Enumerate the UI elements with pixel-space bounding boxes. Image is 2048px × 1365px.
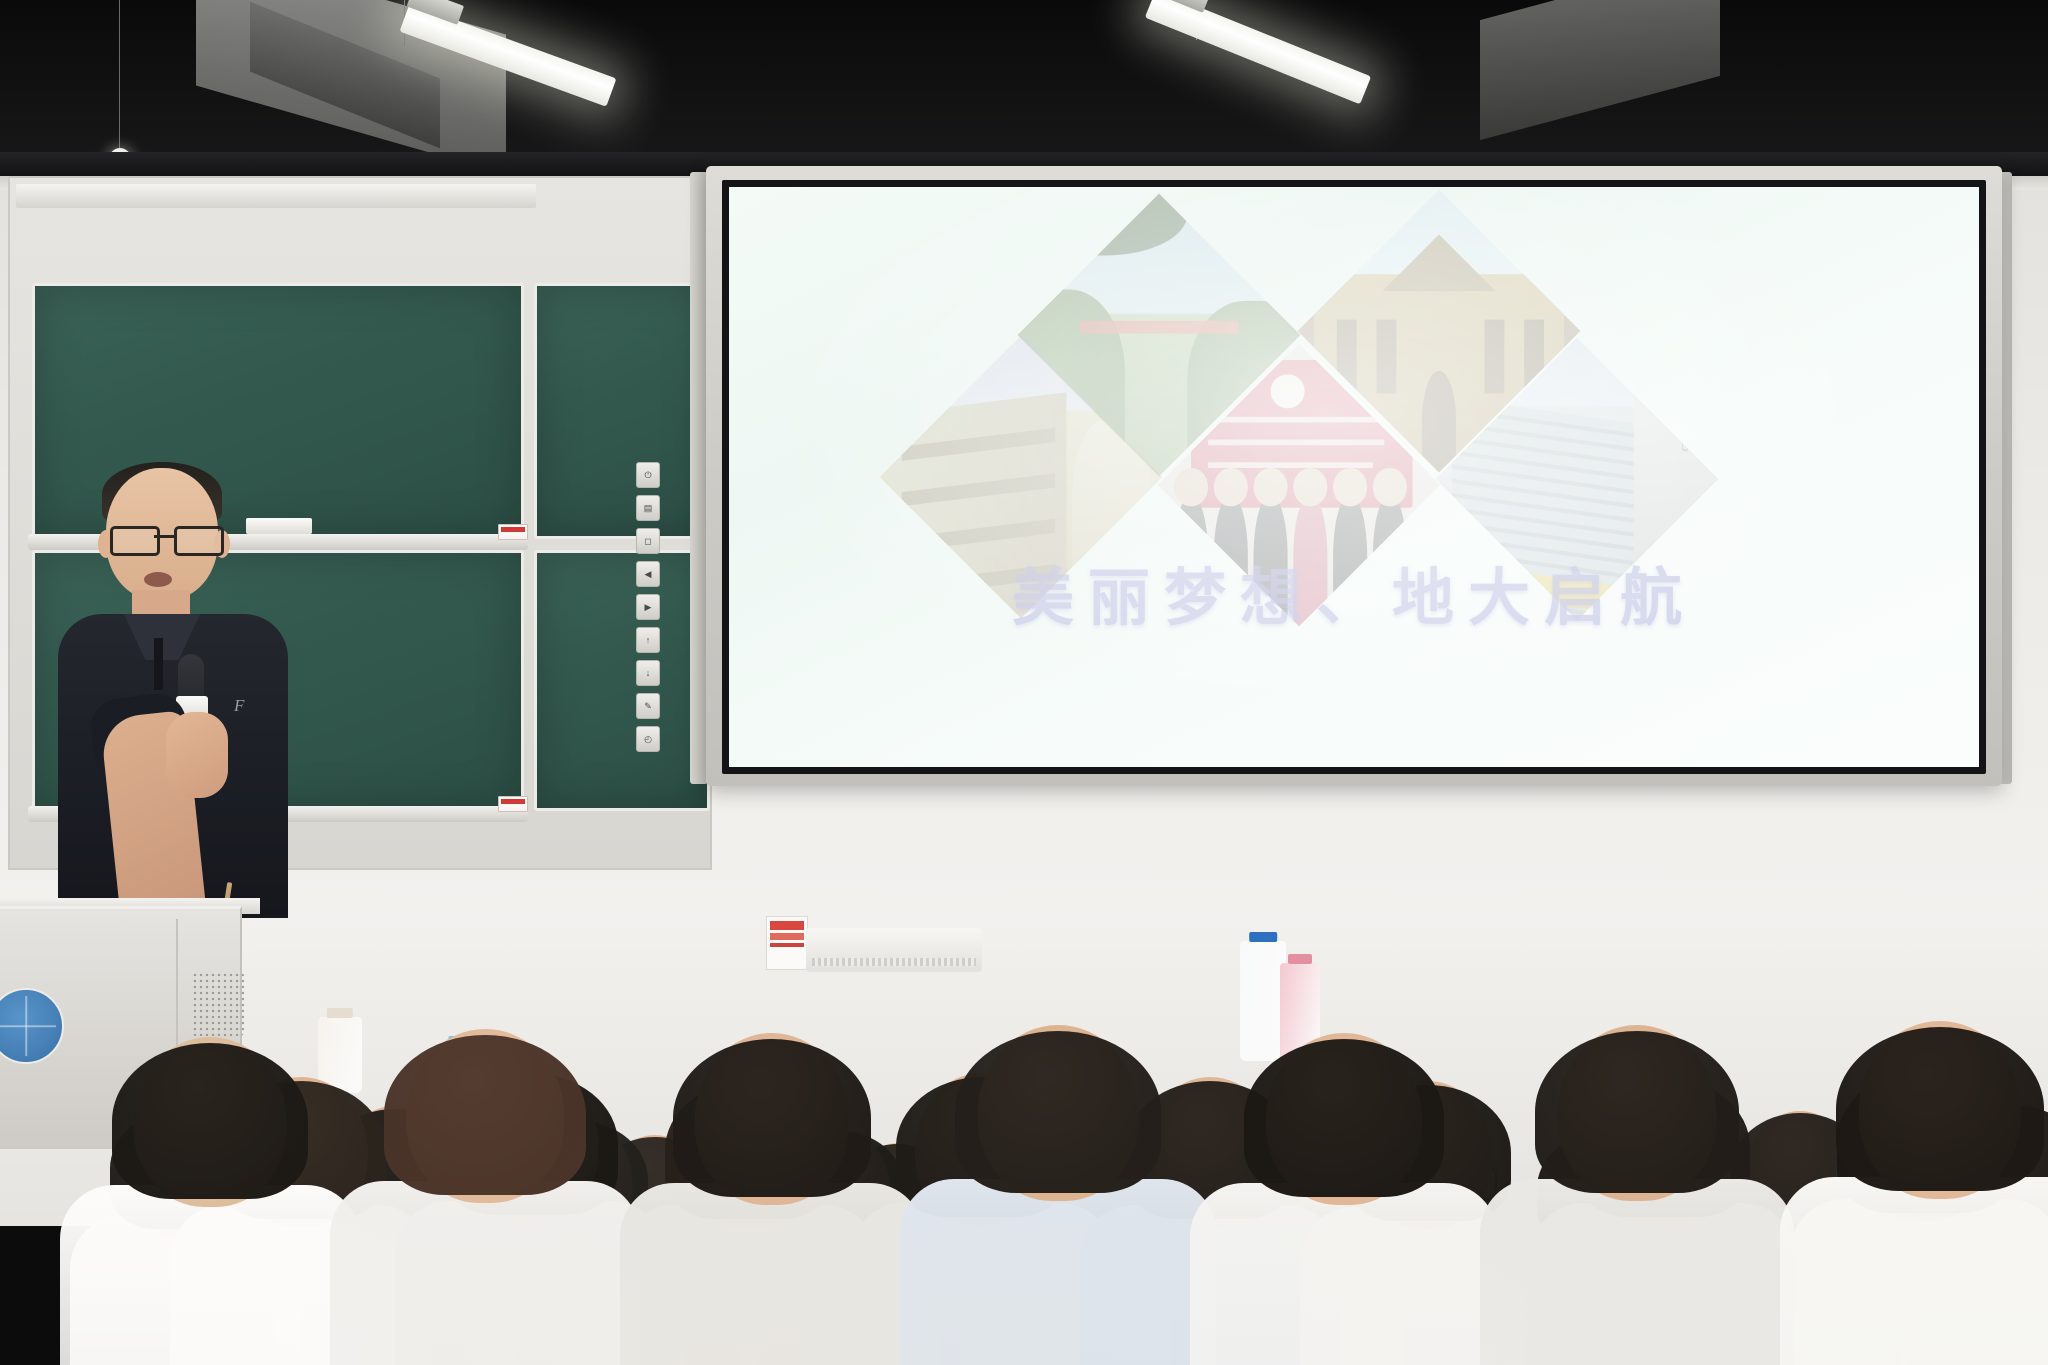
audience (0, 725, 2048, 1365)
bottle-cap (1249, 932, 1277, 942)
hall-window (1337, 320, 1357, 394)
board-top-cap (16, 184, 536, 208)
tube-end-cap (1153, 0, 1211, 13)
audience-hair (1535, 1031, 1739, 1193)
screen-button[interactable]: ▤ (636, 495, 660, 521)
glasses-bridge (154, 535, 174, 538)
audience-shoulders (1190, 1183, 1498, 1365)
group-person-head (1373, 468, 1407, 507)
hall-pediment (1382, 234, 1496, 291)
presenter-glasses-icon (110, 526, 218, 550)
power-button[interactable]: ⏻ (636, 462, 660, 488)
audience-member (620, 1011, 924, 1365)
pendant-wire (119, 0, 120, 150)
projection-screen[interactable]: CUG 美丽梦想、地大启航 (706, 166, 2002, 786)
projector-button[interactable]: ◻ (636, 528, 660, 554)
audience-shoulders (1780, 1177, 2048, 1365)
tree-canopy (1040, 194, 1188, 256)
audience-hair (1836, 1027, 2044, 1191)
group-person-head (1214, 468, 1248, 507)
library-vertical-label: CUG (1676, 405, 1699, 457)
diamond-collage: CUG (729, 187, 1979, 767)
shirt-brand-mark: F (234, 696, 244, 716)
hall-arch-door (1422, 371, 1456, 473)
audience-hair (1244, 1039, 1444, 1197)
bottle-cap (1288, 954, 1312, 964)
board-down-button[interactable]: ↓ (636, 660, 660, 686)
glasses-lens (110, 526, 160, 556)
slide-surface: CUG 美丽梦想、地大启航 (729, 187, 1979, 767)
play-button[interactable]: ▶ (636, 594, 660, 620)
audience-shoulders (330, 1181, 640, 1365)
hall-window (1484, 320, 1504, 394)
audience-member (900, 1003, 1216, 1365)
group-person-head (1174, 468, 1208, 507)
audience-member (1780, 999, 2048, 1365)
banner-text-line (1208, 417, 1395, 423)
audience-hair (955, 1031, 1161, 1193)
chalkboard-panel-upper-right[interactable] (534, 283, 710, 539)
audience-hair (112, 1043, 308, 1199)
group-person-head (1254, 468, 1288, 507)
audience-shoulders (1480, 1179, 1794, 1365)
ceiling-duct-right (1480, 0, 1720, 140)
glasses-lens (174, 526, 224, 556)
hall-window (1377, 320, 1397, 394)
group-person-head (1293, 468, 1327, 507)
classroom-scene: ⏻ ▤ ◻ ◀ ▶ ↑ ↓ ✎ ◴ (0, 0, 2048, 1365)
av-control-panel[interactable]: ⏻ ▤ ◻ ◀ ▶ ↑ ↓ ✎ ◴ (636, 462, 662, 759)
audience-hair (673, 1039, 871, 1197)
slide-title: 美丽梦想、地大启航 (729, 547, 1979, 637)
banner-logo (1271, 374, 1305, 408)
audience-hair (384, 1035, 586, 1195)
gate-sign-text (1079, 321, 1238, 334)
audience-shoulders (60, 1185, 360, 1365)
fluorescent-tube-light-right (1145, 0, 1371, 104)
group-person-head (1333, 468, 1367, 507)
audience-member (1190, 1011, 1498, 1365)
polo-placket (154, 638, 163, 690)
light-button[interactable]: ✎ (636, 693, 660, 719)
screen-bezel: CUG 美丽梦想、地大启航 (722, 180, 1986, 774)
tube-end-cap (407, 0, 465, 25)
banner-text-line (1208, 440, 1384, 446)
audience-member (330, 1007, 640, 1365)
audience-shoulders (900, 1179, 1216, 1365)
audience-member (60, 1015, 360, 1365)
board-up-button[interactable]: ↑ (636, 627, 660, 653)
board-safety-sticker (498, 524, 528, 540)
presenter-mouth (144, 572, 172, 587)
audience-shoulders (620, 1183, 924, 1365)
audience-member (1480, 1003, 1794, 1365)
volume-button[interactable]: ◀ (636, 561, 660, 587)
